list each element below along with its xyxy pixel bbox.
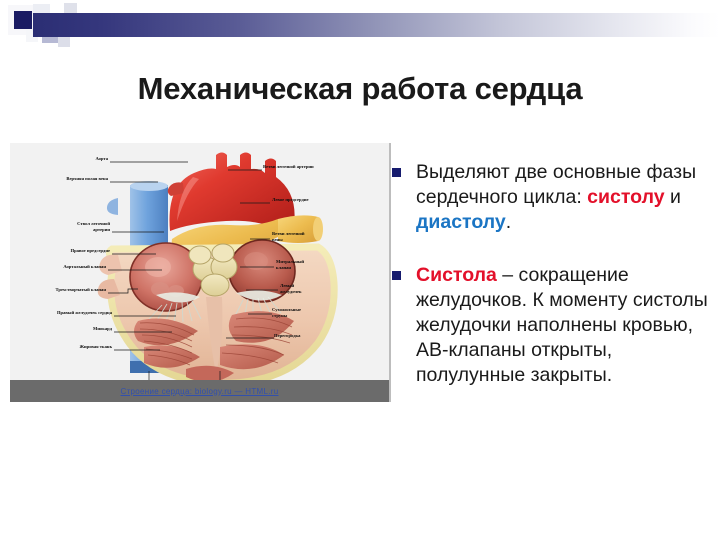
square-bullet-icon [392, 168, 401, 177]
figure-label-pulmonary-vein-branches: Ветви легочной вены [272, 231, 376, 242]
page-title: Механическая работа сердца [40, 71, 680, 107]
header-square-mid-3 [58, 36, 70, 47]
heart-anatomy-figure: Аорта Верхняя полая вена Ствол легочной … [10, 143, 391, 402]
figure-label-fat-tissue: Жировая ткань [28, 344, 112, 350]
figure-label-right-atrium: Правое предсердие [22, 248, 110, 254]
keyword-diastole: диастолу [416, 211, 506, 233]
bullet-text-phases: Выделяют две основные фазы сердечного ци… [416, 160, 710, 235]
figure-label-tricuspid-valve: Трехстворчатый клапан [10, 287, 106, 293]
figure-label-aortic-valve: Аортальный клапан [18, 264, 106, 270]
square-bullet-icon [392, 271, 401, 280]
figure-label-left-atrium: Левое предсердие [272, 197, 376, 203]
heart-anatomy-illustration [10, 143, 389, 402]
figure-watermark-band: Строение сердца: biology.ru — HTML.ru [10, 380, 389, 402]
keyword-systole: систолу [587, 186, 664, 208]
figure-label-pulmonary-trunk: Ствол легочной артерии [32, 221, 110, 232]
header-decoration [0, 0, 720, 60]
figure-label-superior-vena-cava: Верхняя полая вена [16, 176, 108, 182]
header-square-accent [14, 11, 32, 29]
figure-label-mitral-valve: Митральный клапан [276, 259, 376, 270]
figure-label-left-ventricle: Левый желудочек [280, 283, 376, 294]
figure-label-myocardium: Миокард [32, 326, 112, 332]
figure-label-aorta: Аорта [30, 156, 108, 162]
content-bullet-list: Выделяют две основные фазы сердечного ци… [392, 160, 710, 416]
figure-watermark-text: Строение сердца: biology.ru — HTML.ru [121, 387, 279, 396]
figure-label-chordae-tendineae: Сухожильные струны [272, 307, 376, 318]
bullet-text-systole: Систола – сокращение желудочков. К момен… [416, 263, 710, 388]
bullet-item-systole: Систола – сокращение желудочков. К момен… [392, 263, 710, 388]
header-gradient-bar [33, 13, 720, 37]
bullet-seg-conjunction: и [665, 186, 681, 208]
figure-label-right-ventricle: Правый желудочек сердца [10, 310, 112, 316]
keyword-systole-heading: Систола [416, 264, 497, 286]
figure-label-pulmonary-artery-branches: Ветви легочной артерии [263, 164, 373, 170]
bullet-item-phases: Выделяют две основные фазы сердечного ци… [392, 160, 710, 235]
bullet-seg-period: . [506, 211, 511, 233]
figure-label-septum: Перегородка [274, 333, 376, 339]
